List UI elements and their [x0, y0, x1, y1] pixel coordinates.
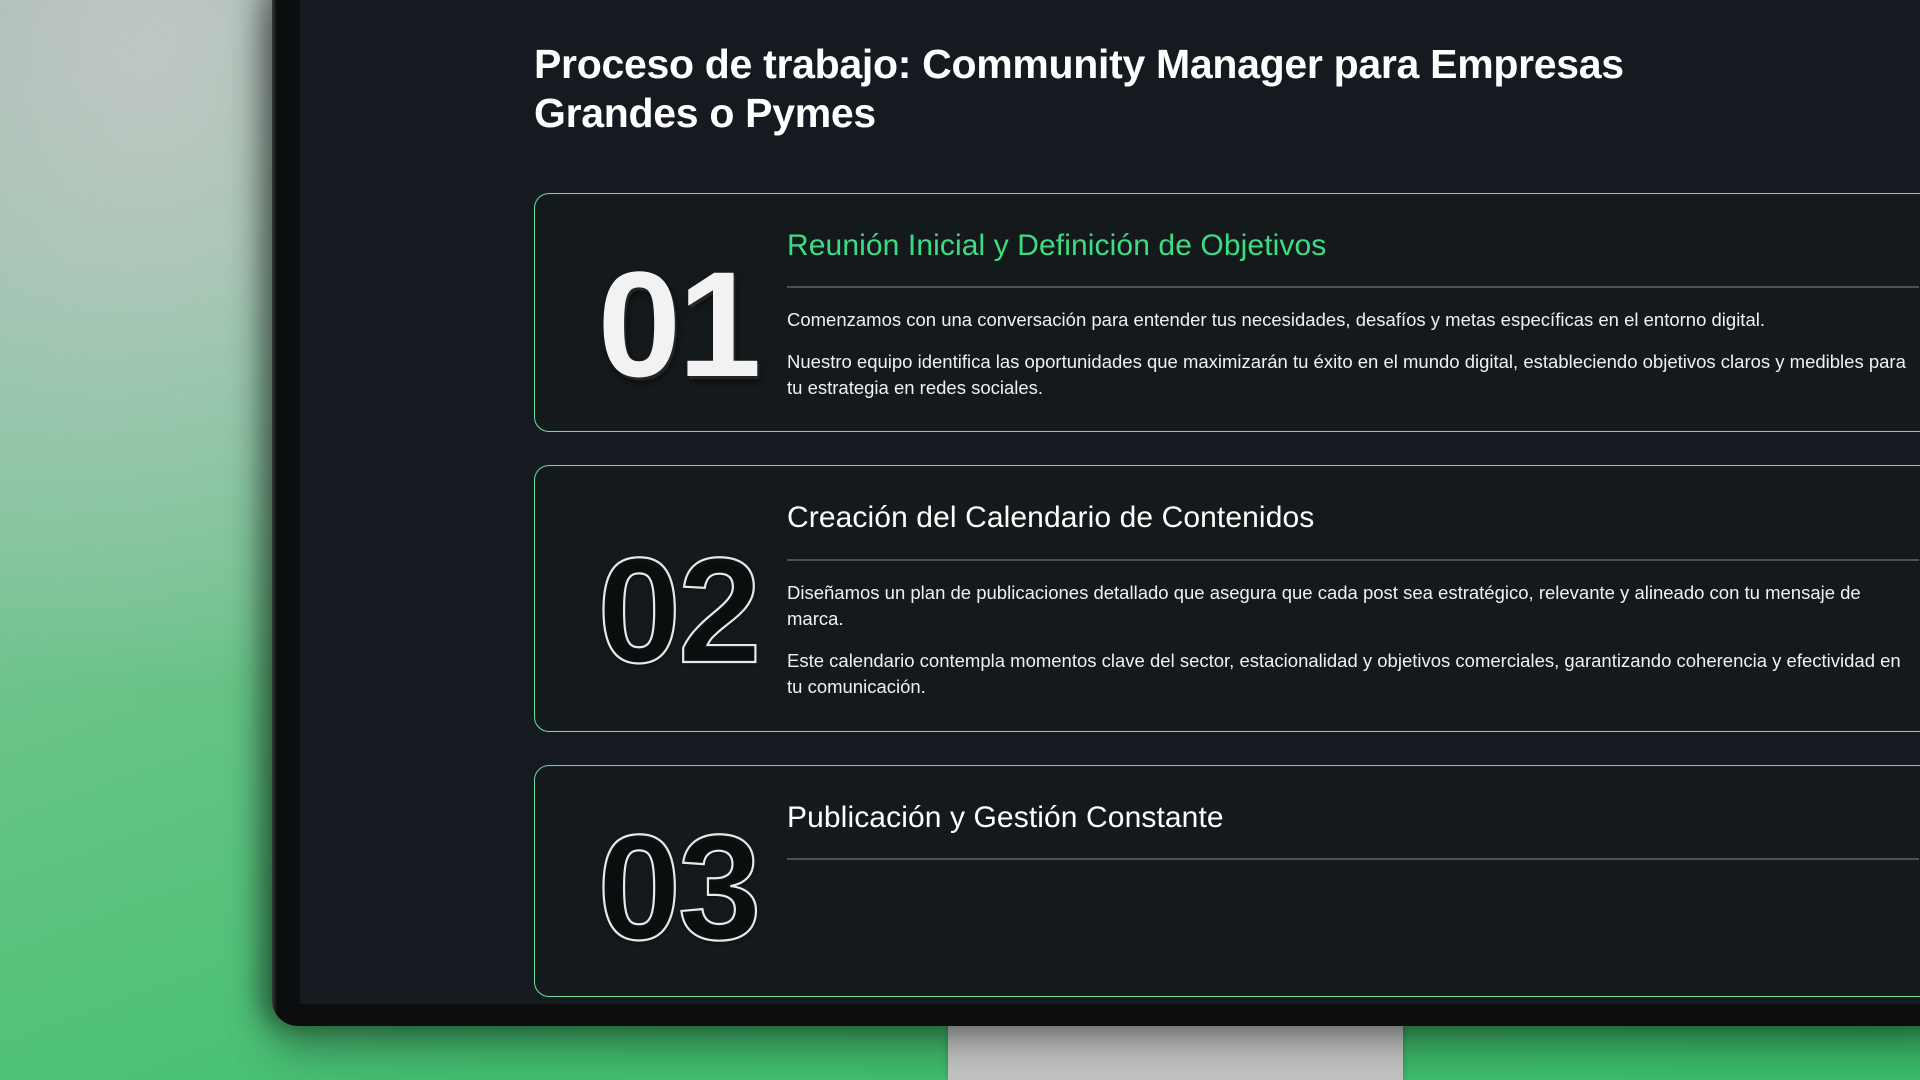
- monitor-device: Proceso de trabajo: Community Manager pa…: [272, 0, 1920, 1026]
- webpage-content: Proceso de trabajo: Community Manager pa…: [300, 0, 1920, 1004]
- step-number-03: 03: [598, 818, 759, 956]
- step-body-01: Reunión Inicial y Definición de Objetivo…: [787, 222, 1919, 402]
- step-divider-01: [787, 286, 1919, 288]
- step-title-01: Reunión Inicial y Definición de Objetivo…: [787, 228, 1919, 265]
- process-step-card-01[interactable]: 01 Reunión Inicial y Definición de Objet…: [534, 193, 1920, 433]
- monitor-bezel-edge: [272, 0, 277, 1026]
- step-number-02: 02: [598, 541, 759, 679]
- step-body-03: Publicación y Gestión Constante: [787, 794, 1919, 879]
- step-number-wrap-03: 03: [569, 794, 787, 956]
- scene-backdrop: Proceso de trabajo: Community Manager pa…: [0, 0, 1920, 1080]
- step-number-wrap-02: 02: [569, 494, 787, 700]
- process-step-card-03[interactable]: 03 Publicación y Gestión Constante: [534, 765, 1920, 997]
- process-step-card-02[interactable]: 02 Creación del Calendario de Contenidos…: [534, 465, 1920, 731]
- step-paragraph-01-2: Nuestro equipo identifica las oportunida…: [787, 349, 1919, 402]
- page-title: Proceso de trabajo: Community Manager pa…: [534, 40, 1734, 138]
- step-number-01: 01: [598, 255, 759, 393]
- process-steps-list: 01 Reunión Inicial y Definición de Objet…: [534, 193, 1920, 997]
- step-divider-03: [787, 858, 1919, 860]
- monitor-stand: [948, 1022, 1403, 1080]
- step-body-02: Creación del Calendario de Contenidos Di…: [787, 494, 1919, 700]
- step-paragraph-01-1: Comenzamos con una conversación para ent…: [787, 307, 1919, 333]
- step-number-wrap-01: 01: [569, 222, 787, 402]
- step-title-02: Creación del Calendario de Contenidos: [787, 500, 1919, 537]
- step-divider-02: [787, 559, 1919, 561]
- monitor-screen: Proceso de trabajo: Community Manager pa…: [300, 0, 1920, 1004]
- step-title-03: Publicación y Gestión Constante: [787, 800, 1919, 837]
- step-paragraph-02-2: Este calendario contempla momentos clave…: [787, 648, 1919, 701]
- step-paragraph-02-1: Diseñamos un plan de publicaciones detal…: [787, 580, 1919, 633]
